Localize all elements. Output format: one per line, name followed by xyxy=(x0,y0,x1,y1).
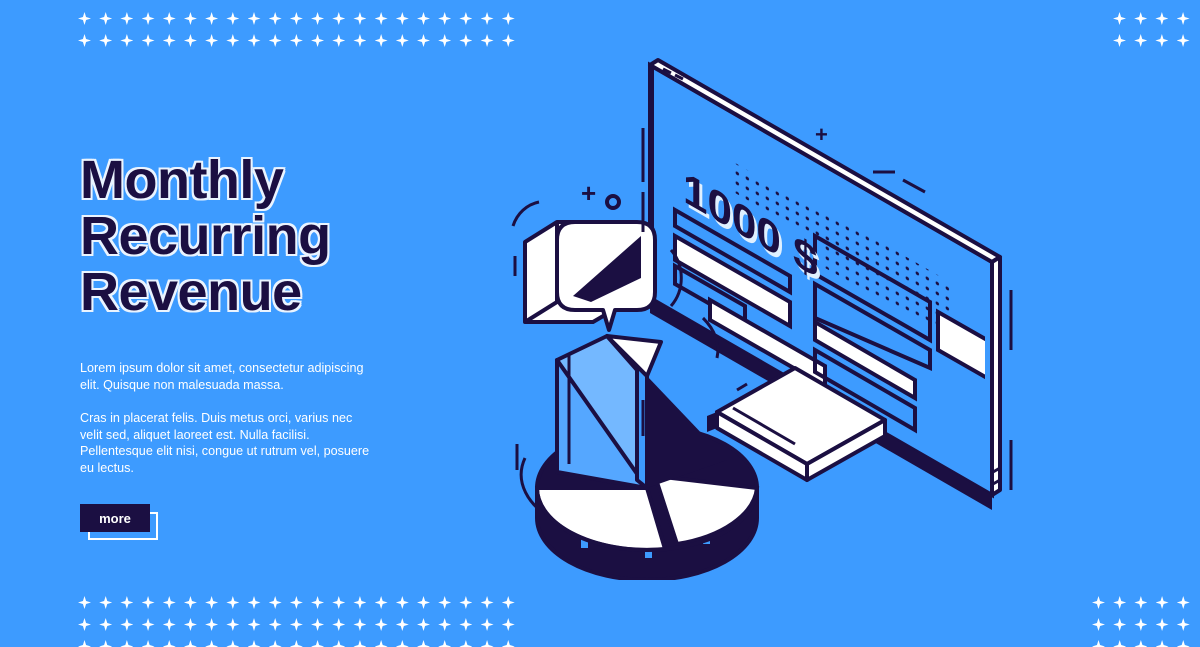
speech-bubble-arc-left xyxy=(513,202,539,226)
decorative-diamond xyxy=(417,640,430,647)
decorative-diamond xyxy=(311,12,324,25)
decorative-diamond xyxy=(502,12,515,25)
decorative-diamond xyxy=(99,34,112,47)
decorative-diamond xyxy=(1177,12,1190,25)
decorative-diamond xyxy=(290,34,303,47)
decorative-diamond xyxy=(163,640,176,647)
hero-illustration: 1000 $ 1000 $ xyxy=(495,40,1055,580)
headline-line-3: Revenue xyxy=(80,264,380,320)
decorative-diamond xyxy=(1177,34,1190,47)
decorative-diamond xyxy=(332,12,345,25)
decorative-diamond xyxy=(142,596,155,609)
decorative-diamond xyxy=(502,596,515,609)
decorative-diamond xyxy=(353,640,366,647)
decorative-diamond xyxy=(375,34,388,47)
decorative-diamond xyxy=(163,618,176,631)
decorative-diamond xyxy=(1134,12,1147,25)
decorative-dots-top-left xyxy=(78,12,523,56)
decorative-diamond xyxy=(502,618,515,631)
decorative-diamond xyxy=(332,596,345,609)
decorative-diamond xyxy=(502,640,515,647)
decorative-diamond xyxy=(184,12,197,25)
decorative-diamond xyxy=(332,640,345,647)
decorative-diamond xyxy=(269,596,282,609)
decorative-diamond xyxy=(1177,640,1190,647)
page-title: Monthly Recurring Revenue xyxy=(80,152,380,320)
decorative-diamond xyxy=(353,12,366,25)
decorative-diamond xyxy=(1177,618,1190,631)
decorative-diamond xyxy=(375,596,388,609)
decorative-diamond xyxy=(1155,34,1168,47)
decorative-diamond xyxy=(184,34,197,47)
cta-wrapper: more xyxy=(80,504,158,540)
decorative-diamond xyxy=(226,34,239,47)
decorative-diamond xyxy=(438,12,451,25)
decorative-diamond xyxy=(226,618,239,631)
decorative-diamond xyxy=(120,640,133,647)
decorative-dots-bottom-right xyxy=(1092,596,1198,647)
decorative-diamond xyxy=(99,596,112,609)
decorative-diamond xyxy=(269,12,282,25)
decorative-diamond xyxy=(290,640,303,647)
decorative-diamond xyxy=(226,640,239,647)
decorative-diamond xyxy=(248,12,261,25)
decorative-diamond xyxy=(1113,34,1126,47)
decorative-diamond xyxy=(120,12,133,25)
decorative-diamond xyxy=(1113,12,1126,25)
decorative-diamond xyxy=(353,34,366,47)
decorative-diamond xyxy=(481,618,494,631)
decorative-diamond xyxy=(417,12,430,25)
plus-icon: + xyxy=(581,178,596,208)
decorative-diamond xyxy=(332,34,345,47)
more-button[interactable]: more xyxy=(80,504,150,532)
decorative-diamond xyxy=(226,12,239,25)
decorative-diamond xyxy=(375,640,388,647)
decorative-diamond xyxy=(459,596,472,609)
decorative-diamond xyxy=(1156,618,1169,631)
decorative-diamond xyxy=(184,618,197,631)
decorative-diamond xyxy=(1092,618,1105,631)
keyboard-key-line-2 xyxy=(737,384,747,390)
decorative-diamond xyxy=(417,618,430,631)
decorative-diamond xyxy=(290,596,303,609)
decorative-diamond xyxy=(248,34,261,47)
decorative-diamond xyxy=(99,640,112,647)
decorative-diamond xyxy=(248,640,261,647)
decorative-diamond xyxy=(142,640,155,647)
decorative-diamond xyxy=(396,640,409,647)
decorative-diamond xyxy=(184,640,197,647)
decorative-diamond xyxy=(459,12,472,25)
decorative-diamond xyxy=(290,12,303,25)
decorative-diamond xyxy=(1134,34,1147,47)
decorative-diamond xyxy=(1177,596,1190,609)
decorative-diamond xyxy=(481,12,494,25)
decorative-diamond xyxy=(163,34,176,47)
decorative-diamond xyxy=(205,12,218,25)
decorative-diamond xyxy=(226,596,239,609)
decorative-diamond xyxy=(417,596,430,609)
decorative-diamond xyxy=(205,618,218,631)
decorative-diamond xyxy=(353,596,366,609)
decorative-diamond xyxy=(375,618,388,631)
decorative-diamond xyxy=(438,34,451,47)
decorative-diamond xyxy=(1134,640,1147,647)
decorative-diamond xyxy=(99,12,112,25)
decorative-diamond xyxy=(269,618,282,631)
decorative-diamond xyxy=(459,618,472,631)
decorative-diamond xyxy=(269,34,282,47)
decorative-diamond xyxy=(142,34,155,47)
decorative-diamond xyxy=(205,34,218,47)
decorative-diamond xyxy=(438,618,451,631)
circle-icon xyxy=(607,196,619,208)
decorative-diamond xyxy=(78,596,91,609)
decorative-diamond xyxy=(1134,618,1147,631)
decorative-diamond xyxy=(1156,596,1169,609)
decorative-diamond xyxy=(248,618,261,631)
banner-canvas: Monthly Recurring Revenue Lorem ipsum do… xyxy=(0,0,1200,647)
decorative-diamond xyxy=(120,34,133,47)
decorative-diamond xyxy=(1155,12,1168,25)
decorative-diamond xyxy=(78,34,91,47)
decorative-diamond xyxy=(269,640,282,647)
decorative-diamond xyxy=(163,596,176,609)
decorative-dots-bottom-left xyxy=(78,596,523,647)
decorative-diamond xyxy=(120,596,133,609)
decorative-diamond xyxy=(142,618,155,631)
decorative-diamond xyxy=(311,34,324,47)
decorative-diamond xyxy=(459,34,472,47)
decorative-diamond xyxy=(248,596,261,609)
decorative-diamond xyxy=(1092,640,1105,647)
decorative-diamond xyxy=(163,12,176,25)
decorative-diamond xyxy=(1113,596,1126,609)
plus-mark-icon: + xyxy=(815,122,828,147)
decorative-diamond xyxy=(205,596,218,609)
decorative-diamond xyxy=(375,12,388,25)
pie-chart-graphic xyxy=(517,318,757,580)
decorative-diamond xyxy=(417,34,430,47)
decorative-diamond xyxy=(1092,596,1105,609)
decorative-diamond xyxy=(78,618,91,631)
decorative-diamond xyxy=(481,596,494,609)
decorative-diamond xyxy=(332,618,345,631)
decorative-diamond xyxy=(438,596,451,609)
headline-line-2: Recurring xyxy=(80,208,380,264)
headline-line-1: Monthly xyxy=(80,152,380,208)
decorative-diamond xyxy=(120,618,133,631)
decorative-diamond xyxy=(78,12,91,25)
decorative-diamond xyxy=(481,34,494,47)
decorative-diamond xyxy=(311,640,324,647)
decorative-diamond xyxy=(459,640,472,647)
decorative-diamond xyxy=(396,34,409,47)
decorative-diamond xyxy=(1156,640,1169,647)
decorative-diamond xyxy=(481,640,494,647)
decorative-diamond xyxy=(142,12,155,25)
decorative-diamond xyxy=(184,596,197,609)
hero-paragraph-1: Lorem ipsum dolor sit amet, consectetur … xyxy=(80,360,372,393)
decorative-diamond xyxy=(353,618,366,631)
decorative-diamond xyxy=(290,618,303,631)
hero-text-column: Monthly Recurring Revenue Lorem ipsum do… xyxy=(80,152,380,540)
decorative-dots-top-right xyxy=(1113,12,1198,56)
decorative-diamond xyxy=(311,618,324,631)
decorative-diamond xyxy=(396,618,409,631)
decorative-diamond xyxy=(205,640,218,647)
decorative-diamond xyxy=(1113,618,1126,631)
decorative-diamond xyxy=(396,12,409,25)
decorative-diamond xyxy=(1134,596,1147,609)
decorative-diamond xyxy=(438,640,451,647)
decorative-diamond xyxy=(1113,640,1126,647)
decorative-diamond xyxy=(78,640,91,647)
hero-paragraph-2: Cras in placerat felis. Duis metus orci,… xyxy=(80,410,372,476)
decorative-diamond xyxy=(311,596,324,609)
tick-dash-right-2 xyxy=(903,180,925,192)
monitor-right-bezel xyxy=(992,257,1000,495)
decorative-diamond xyxy=(99,618,112,631)
decorative-diamond xyxy=(396,596,409,609)
